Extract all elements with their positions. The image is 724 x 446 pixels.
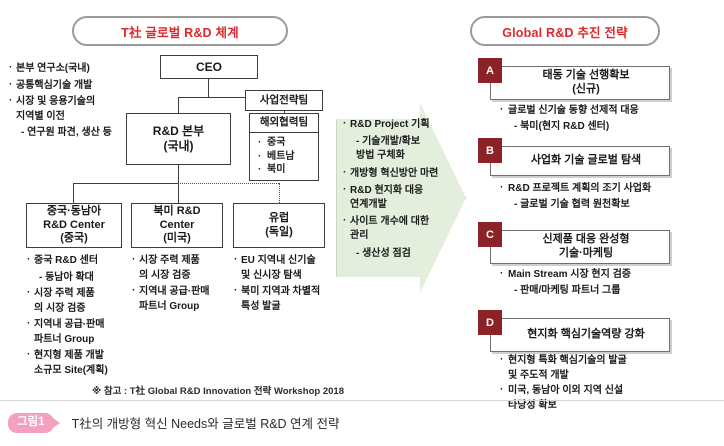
strategy-heading-text: 신제품 대응 완성형 기술·마케팅 xyxy=(542,233,629,261)
org-box-center-europe: 유럽 (독일) xyxy=(233,203,325,248)
list-item: 공통핵심기술 개발 xyxy=(8,79,126,94)
strategy-heading-text: 태동 기술 선행확보 (신규) xyxy=(542,69,629,97)
list-item-sub: - 연구원 파견, 생산 등 xyxy=(8,126,126,141)
list-item-sub: - 글로벌 기술 협력 원천확보 xyxy=(500,198,715,213)
strategy-head: B 사업화 기술 글로벌 탐색 xyxy=(478,138,718,176)
connector-europe-dotted-vertical xyxy=(279,183,280,203)
org-box-overseas-team: 해외협력팀 xyxy=(249,113,319,133)
list-item: 북미 xyxy=(267,164,285,175)
org-box-label: R&D 본부 (국내) xyxy=(153,124,204,154)
strategy-details-d: 현지형 특화 핵심기술의 발굴 및 주도적 개발 미국, 동남아 이외 지역 신… xyxy=(500,354,715,414)
strategy-heading-d: 현지화 핵심기술역량 강화 xyxy=(490,318,670,352)
center-china-details: 중국 R&D 센터 - 동남아 확대 시장 주력 제품 의 시장 검증 지역내 … xyxy=(26,254,126,380)
caption-badge: 그림1 xyxy=(8,413,54,433)
list-item: R&D Project 기획 xyxy=(342,118,464,132)
org-box-center-china: 중국·동남아 R&D Center (중국) xyxy=(26,203,122,248)
org-box-strategy-team: 사업전략팀 xyxy=(245,90,323,111)
right-panel-title: Global R&D 추진 전략 xyxy=(470,16,660,46)
list-item-sub: - 기술개발/확보 방법 구체화 xyxy=(342,135,464,163)
strategy-head: C 신제품 대응 완성형 기술·마케팅 xyxy=(478,222,718,260)
strategy-head: A 태동 기술 선행확보 (신규) xyxy=(478,58,718,96)
list-item: 시장 주력 제품 의 시장 검증 xyxy=(26,287,126,316)
connector-center2-stem xyxy=(178,183,179,203)
strategy-badge-c: C xyxy=(478,222,502,247)
strategy-block-b: B 사업화 기술 글로벌 탐색 R&D 프로젝트 계획의 조기 사업화 - 글로… xyxy=(478,138,718,176)
footnote: ※ 참고 : T社 Global R&D Innovation 전략 Works… xyxy=(92,383,344,397)
list-item: 개방형 혁신방안 마련 xyxy=(342,167,464,181)
list-item: 지역내 공급·판매 파트너 Group xyxy=(26,318,126,347)
strategy-block-d: D 현지화 핵심기술역량 강화 현지형 특화 핵심기술의 발굴 및 주도적 개발… xyxy=(478,310,718,348)
strategy-heading-text: 현지화 핵심기술역량 강화 xyxy=(527,328,644,342)
strategy-heading-c: 신제품 대응 완성형 기술·마케팅 xyxy=(490,230,670,264)
left-notes-list: 본부 연구소(국내) 공통핵심기술 개발 시장 및 응용기술의 지역별 이전 -… xyxy=(8,62,126,143)
strategy-block-c: C 신제품 대응 완성형 기술·마케팅 Main Stream 시장 현지 검증… xyxy=(478,222,718,260)
left-panel-title: T社 글로벌 R&D 체계 xyxy=(72,16,288,46)
list-item-sub: - 동남아 확대 xyxy=(26,271,126,286)
caption-text: T社의 개방형 혁신 Needs와 글로벌 R&D 연계 전략 xyxy=(72,413,340,432)
list-item: R&D 프로젝트 계획의 조기 사업화 xyxy=(500,182,715,197)
arrow-items-list: R&D Project 기획 - 기술개발/확보 방법 구체화 개방형 혁신방안… xyxy=(342,118,464,264)
list-item: 본부 연구소(국내) xyxy=(8,62,126,77)
list-item-sub: - 생산성 점검 xyxy=(342,247,464,261)
list-item: Main Stream 시장 현지 검증 xyxy=(500,268,715,283)
connector-centers-horizontal xyxy=(73,183,179,184)
list-item: 시장 주력 제품 의 시장 검증 xyxy=(131,254,227,283)
org-box-label: 중국·동남아 R&D Center (중국) xyxy=(43,205,105,246)
strategy-details-c: Main Stream 시장 현지 검증 - 판매/마케팅 파트너 그룹 xyxy=(500,268,715,298)
connector-hq-down xyxy=(178,165,179,183)
list-item: 시장 및 응용기술의 지역별 이전 xyxy=(8,95,126,124)
strategy-heading-b: 사업화 기술 글로벌 탐색 xyxy=(490,146,670,176)
strategy-heading-text: 사업화 기술 글로벌 탐색 xyxy=(531,154,641,168)
center-europe-details: EU 지역내 신기술 및 신시장 탐색 북미 지역과 차별적 특성 발굴 xyxy=(233,254,331,316)
strategy-head: D 현지화 핵심기술역량 강화 xyxy=(478,310,718,348)
strategy-badge-b: B xyxy=(478,138,502,163)
connector-rnd-stem xyxy=(178,97,179,114)
connector-ceo-stem xyxy=(208,79,209,97)
list-item: 사이트 개수에 대한 관리 xyxy=(342,215,464,243)
list-item: 현지형 제품 개발 소규모 Site(계획) xyxy=(26,349,126,378)
list-item: 북미 지역과 차별적 특성 발굴 xyxy=(233,285,331,314)
list-item-sub: - 판매/마케팅 파트너 그룹 xyxy=(500,284,715,299)
strategy-badge-d: D xyxy=(478,310,502,335)
overseas-regions-list: ·중국 ·베트남 ·북미 xyxy=(249,133,319,181)
strategy-heading-a: 태동 기술 선행확보 (신규) xyxy=(490,66,670,100)
list-item: 베트남 xyxy=(267,151,295,162)
org-box-ceo: CEO xyxy=(160,55,258,79)
connector-europe-dotted-horizontal xyxy=(178,183,279,184)
list-item: EU 지역내 신기술 및 신시장 탐색 xyxy=(233,254,331,283)
list-item: 중국 xyxy=(267,137,285,148)
list-item: 중국 R&D 센터 xyxy=(26,254,126,269)
org-box-rnd-headquarters: R&D 본부 (국내) xyxy=(126,113,231,165)
list-item: 지역내 공급·판매 파트너 Group xyxy=(131,285,227,314)
list-item-sub: - 북미(현지 R&D 센터) xyxy=(500,120,715,135)
diagram-canvas: T社 글로벌 R&D 체계 본부 연구소(국내) 공통핵심기술 개발 시장 및 … xyxy=(0,0,724,446)
center-northamerica-details: 시장 주력 제품 의 시장 검증 지역내 공급·판매 파트너 Group xyxy=(131,254,227,316)
divider xyxy=(0,400,724,401)
list-item: 현지형 특화 핵심기술의 발굴 및 주도적 개발 xyxy=(500,354,715,383)
list-item: R&D 현지화 대응 연계개발 xyxy=(342,184,464,212)
connector-ceo-horizontal xyxy=(178,97,250,98)
strategy-badge-a: A xyxy=(478,58,502,83)
connector-center1-stem xyxy=(73,183,74,203)
list-item: 미국, 동남아 이외 지역 신설 타당성 확보 xyxy=(500,384,715,413)
caption: 그림1 T社의 개방형 혁신 Needs와 글로벌 R&D 연계 전략 xyxy=(8,413,340,433)
org-box-label: 북미 R&D Center (미국) xyxy=(153,205,200,246)
list-item: 글로벌 신기술 동향 선제적 대응 xyxy=(500,104,715,119)
strategy-details-b: R&D 프로젝트 계획의 조기 사업화 - 글로벌 기술 협력 원천확보 xyxy=(500,182,715,212)
org-box-label: 유럽 (독일) xyxy=(265,212,293,240)
strategy-block-a: A 태동 기술 선행확보 (신규) 글로벌 신기술 동향 선제적 대응 - 북미… xyxy=(478,58,718,96)
org-box-center-northamerica: 북미 R&D Center (미국) xyxy=(131,203,223,248)
strategy-details-a: 글로벌 신기술 동향 선제적 대응 - 북미(현지 R&D 센터) xyxy=(500,104,715,134)
